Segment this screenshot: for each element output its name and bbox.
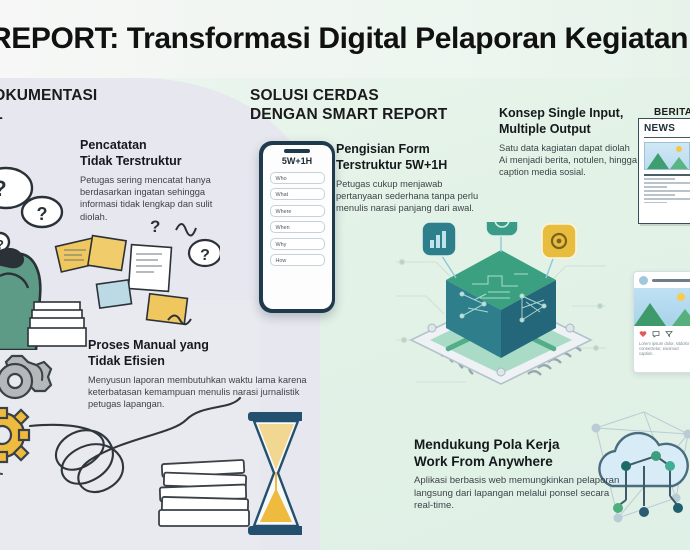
social-post-caption: Lorem ipsum dolor, sitdolor consectetur,… — [634, 341, 690, 357]
field-what[interactable]: What — [270, 188, 325, 200]
social-post-card: Lorem ipsum dolor, sitdolor consectetur,… — [633, 271, 690, 373]
block-pencatatan: Pencatatan Tidak Terstruktur Petugas ser… — [80, 138, 240, 223]
username-placeholder — [652, 279, 690, 281]
field-who[interactable]: Who — [270, 172, 325, 184]
block-heading: Pencatatan Tidak Terstruktur — [80, 138, 240, 169]
news-image — [644, 142, 690, 170]
news-text-line — [644, 174, 690, 176]
field-where[interactable]: Where — [270, 205, 325, 217]
block-body: Petugas sering mencatat hanya berdasarka… — [80, 174, 240, 223]
sun-icon — [677, 293, 685, 301]
phone-screen: 5W+1H Who What Where When Why How — [263, 145, 332, 309]
news-rule — [644, 137, 690, 138]
avatar — [639, 276, 648, 285]
field-why[interactable]: Why — [270, 238, 325, 250]
news-text-line — [644, 202, 667, 204]
news-text-line — [644, 182, 690, 184]
news-masthead: NEWS — [644, 123, 690, 134]
social-action-bar — [634, 326, 690, 341]
block-heading: Mendukung Pola Kerja Work From Anywhere — [414, 437, 630, 470]
sun-icon — [676, 146, 682, 152]
block-heading: Konsep Single Input, Multiple Output — [499, 106, 639, 137]
block-body: Aplikasi berbasis web memungkinkan pelap… — [414, 475, 630, 513]
heart-icon[interactable] — [639, 330, 647, 338]
comment-icon[interactable] — [652, 330, 660, 338]
mountain-shape — [670, 157, 688, 169]
phone-mockup: 5W+1H Who What Where When Why How — [259, 141, 335, 313]
field-when[interactable]: When — [270, 221, 325, 233]
form-title: 5W+1H — [263, 156, 332, 166]
block-body: Petugas cukup menjawab pertanyaan sederh… — [336, 178, 484, 215]
block-work-from-anywhere: Mendukung Pola Kerja Work From Anywhere … — [414, 437, 630, 513]
news-text-line — [644, 190, 690, 192]
mountain-shape — [672, 309, 690, 326]
news-output-card: NEWS — [638, 118, 690, 224]
social-post-header — [634, 272, 690, 288]
phone-notch — [284, 149, 310, 153]
mountain-shape — [634, 303, 666, 326]
mountain-shape — [647, 153, 669, 169]
block-konsep-single-input: Konsep Single Input, Multiple Output Sat… — [499, 106, 639, 179]
block-heading: Pengisian Form Terstruktur 5W+1H — [336, 142, 484, 173]
block-body: Menyusun laporan membutuhkan waktu lama … — [88, 374, 328, 411]
news-text-line — [644, 198, 690, 200]
block-heading: Proses Manual yang Tidak Efisien — [88, 338, 328, 369]
field-how[interactable]: How — [270, 254, 325, 266]
block-body: Satu data kagiatan dapat diolah Ai menja… — [499, 142, 639, 179]
infographic-canvas: REPORT: Transformasi Digital Pelaporan K… — [0, 0, 690, 550]
news-text-line — [644, 194, 675, 196]
section-header-left: DOKUMENTASI AL — [0, 86, 97, 124]
block-pengisian-form: Pengisian Form Terstruktur 5W+1H Petugas… — [336, 142, 484, 215]
news-text-line — [644, 186, 667, 188]
social-post-image — [634, 288, 690, 326]
section-header-center: SOLUSI CERDAS DENGAN SMART REPORT — [250, 86, 447, 124]
send-icon[interactable] — [665, 330, 673, 338]
page-title: REPORT: Transformasi Digital Pelaporan K… — [0, 22, 688, 56]
block-proses-manual: Proses Manual yang Tidak Efisien Menyusu… — [88, 338, 328, 411]
news-text-line — [644, 178, 675, 180]
